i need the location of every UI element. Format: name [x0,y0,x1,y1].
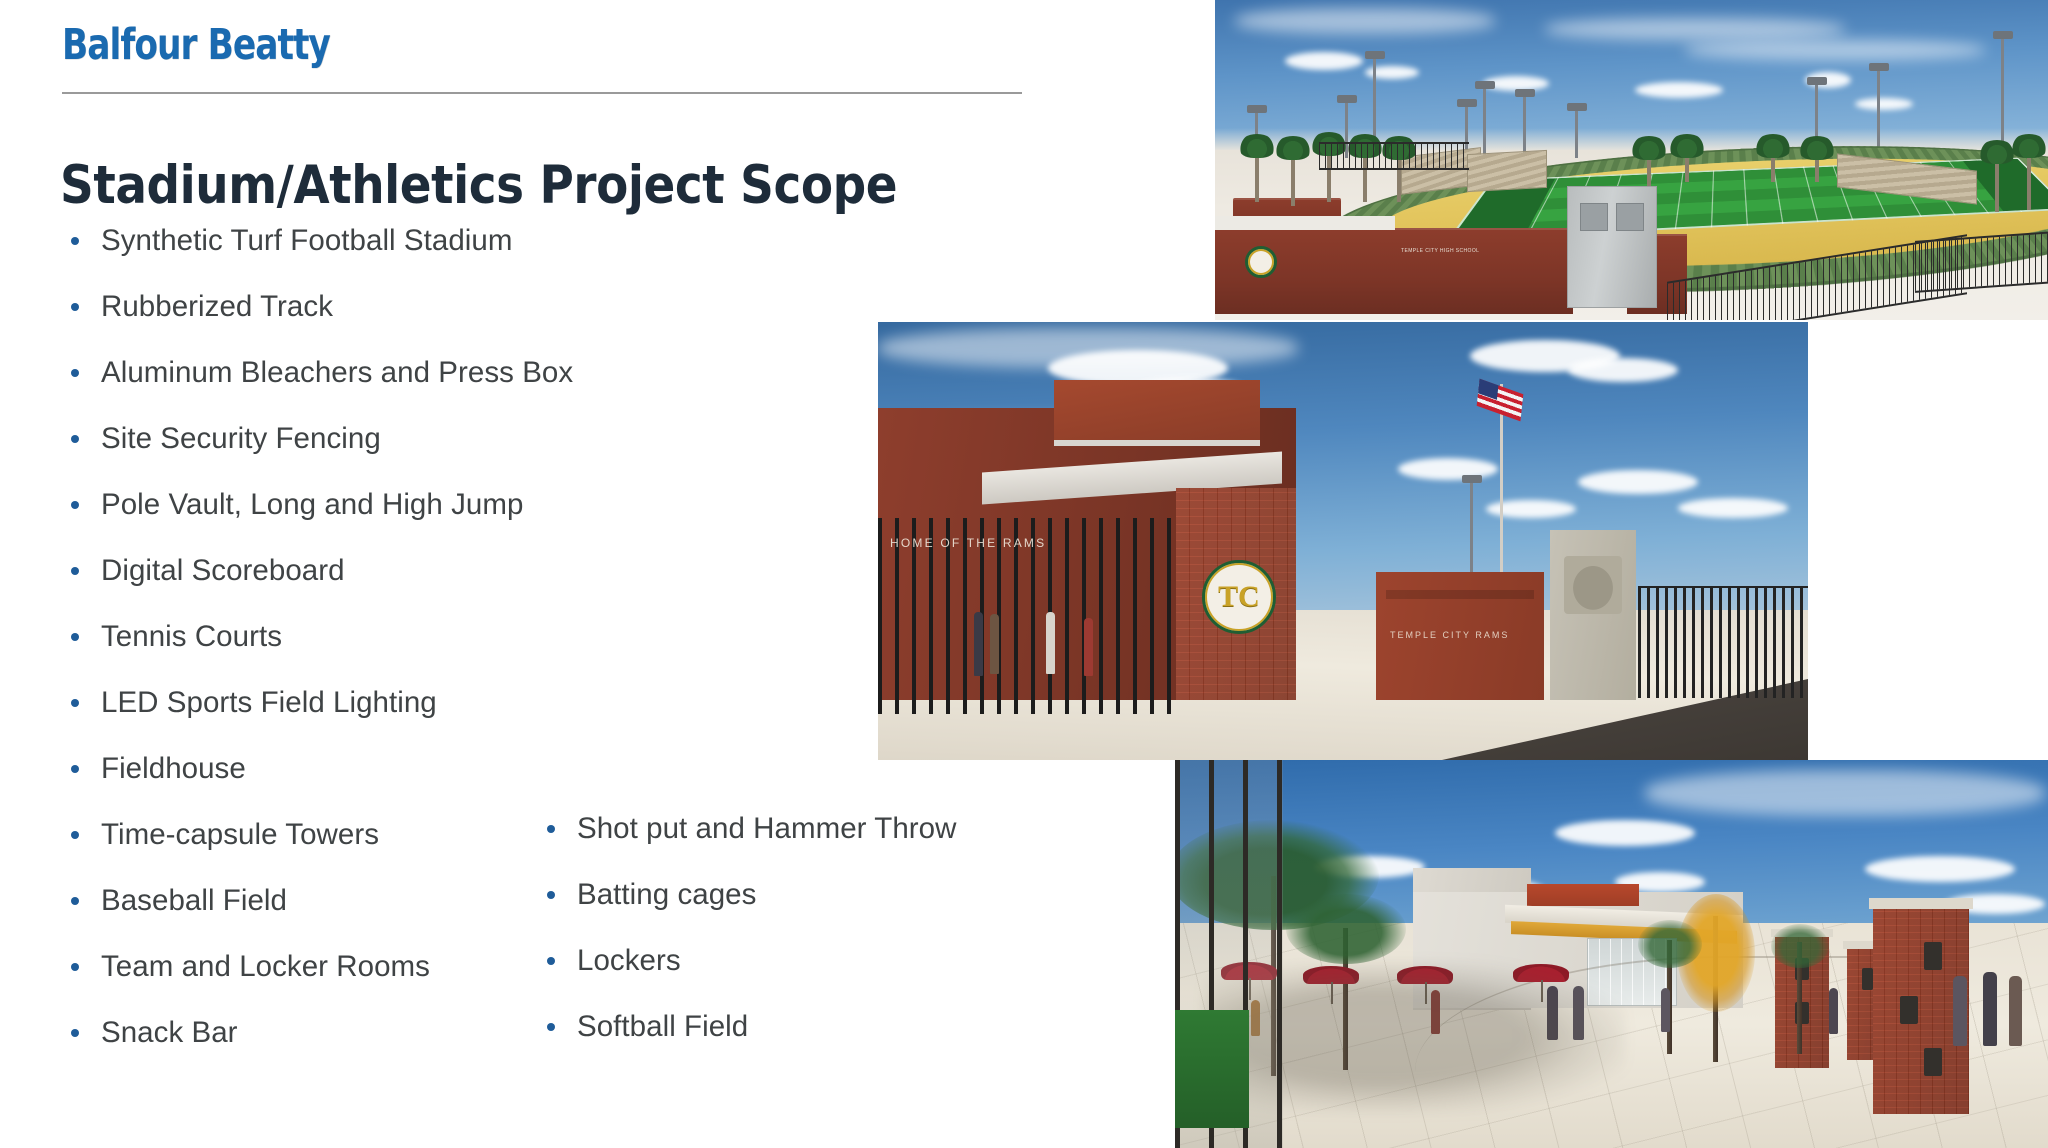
monument-wall [1550,530,1636,700]
bullet-dot-icon [71,237,79,245]
cloud [1555,820,1695,846]
security-fence [1915,231,2048,293]
light-pole [1483,88,1486,156]
bullet-dot-icon [71,1029,79,1037]
cloud [1678,498,1788,518]
tower-window [1862,968,1873,990]
palm-tree [1291,152,1295,206]
cloud [1685,40,1985,60]
tree-canopy [1771,924,1829,968]
list-item-label: Fieldhouse [101,752,246,785]
tower-window [1900,996,1918,1024]
cloud [1398,458,1498,480]
building-accent-band [1527,884,1639,906]
scope-list-secondary: Shot put and Hammer Throw Batting cages … [538,796,1058,1060]
tower-window [1924,942,1942,970]
tower-window [1924,1048,1942,1076]
tree-canopy [1638,920,1702,968]
cloud [1545,18,1845,40]
bullet-dot-icon [71,897,79,905]
list-item-label: Team and Locker Rooms [101,950,430,983]
tower-panel [1580,203,1608,231]
school-crest-icon [1245,246,1277,278]
list-item: Batting cages [538,862,1058,928]
bullet-dot-icon [71,435,79,443]
list-item: Aluminum Bleachers and Press Box [62,340,622,406]
security-fence [1638,586,1808,698]
tree-canopy [1286,894,1406,964]
gate-signage-text: HOME OF THE RAMS [890,536,1046,550]
light-pole [1523,96,1526,158]
person-figure [1084,618,1093,676]
list-item: Softball Field [538,994,1058,1060]
crest-monogram: TC [1205,563,1273,631]
palm-tree [2027,150,2031,210]
list-item-label: Time-capsule Towers [101,818,379,851]
cloud [1235,8,1495,34]
tower-cap [1869,898,1973,909]
person-figure [990,614,999,674]
bleacher [1467,150,1547,192]
bullet-dot-icon [71,567,79,575]
list-item-label: Site Security Fencing [101,422,381,455]
cloud [1285,52,1363,70]
accent-tree [1713,916,1718,1062]
bullet-dot-icon [547,957,555,965]
list-item-label: LED Sports Field Lighting [101,686,437,719]
security-fence [1319,142,1469,170]
brick-wing-wall: TEMPLE CITY RAMS [1376,572,1544,700]
stadium-wall-caption: TEMPLE CITY HIGH SCHOOL [1401,248,1479,254]
wall-reveal-band [1386,590,1534,599]
wing-wall-text: TEMPLE CITY RAMS [1390,630,1509,640]
list-item-label: Aluminum Bleachers and Press Box [101,356,573,389]
bullet-dot-icon [71,501,79,509]
list-item-label: Synthetic Turf Football Stadium [101,224,512,257]
cloud [1865,856,2015,882]
brick-parapet [1054,380,1260,440]
bullet-dot-icon [547,891,555,899]
list-item: LED Sports Field Lighting [62,670,622,736]
cloud [1635,82,1723,98]
list-item-label: Batting cages [577,878,756,911]
stadium-entry-rendering: TEMPLE CITY RAMS HOME OF THE RAMS TC [878,322,1808,760]
list-item-label: Softball Field [577,1010,748,1043]
cloud [1855,98,1913,110]
aerial-stadium-rendering: TEMPLE CITY HIGH SCHOOL [1215,0,2048,320]
bullet-dot-icon [71,765,79,773]
header-divider-rule [62,92,1022,94]
hedge-planting [1175,1010,1249,1128]
balfour-beatty-logo: Balfour Beatty [62,23,330,68]
person-figure [1953,976,1967,1046]
palm-tree [1647,152,1651,186]
bullet-dot-icon [71,963,79,971]
cloud [1568,358,1678,382]
list-item: Synthetic Turf Football Stadium [62,208,622,274]
palm-tree [1255,150,1259,202]
light-pole [1575,110,1578,158]
bullet-dot-icon [71,633,79,641]
list-item: Site Security Fencing [62,406,622,472]
school-crest-icon: TC [1202,560,1276,634]
list-item-label: Baseball Field [101,884,287,917]
bullet-dot-icon [71,303,79,311]
list-item: Digital Scoreboard [62,538,622,604]
brick-wall [1215,228,1365,314]
list-item: Shot put and Hammer Throw [538,796,1058,862]
tower-panel [1616,203,1644,231]
list-item: Tennis Courts [62,604,622,670]
mascot-relief-icon [1564,556,1622,614]
bullet-dot-icon [547,825,555,833]
shade-tree [1797,942,1802,1054]
person-figure [1829,988,1838,1034]
list-item: Fieldhouse [62,736,622,802]
wall-coping [1215,216,1395,230]
cloud [1578,470,1698,494]
brick-wall [1363,228,1573,314]
palm-tree [1815,152,1819,182]
list-item-label: Pole Vault, Long and High Jump [101,488,523,521]
person-figure [1046,612,1055,674]
person-figure [2009,976,2022,1046]
list-item-label: Rubberized Track [101,290,333,323]
list-item: Pole Vault, Long and High Jump [62,472,622,538]
bullet-dot-icon [71,699,79,707]
list-item-label: Digital Scoreboard [101,554,345,587]
campus-plaza-rendering [1175,760,2048,1148]
palm-tree [1685,150,1689,182]
list-item: Rubberized Track [62,274,622,340]
person-figure [974,612,983,676]
bullet-dot-icon [71,831,79,839]
list-item-label: Snack Bar [101,1016,238,1049]
slide-canvas: Balfour Beatty Stadium/Athletics Project… [0,0,2048,1148]
person-figure [1983,972,1997,1046]
list-item-label: Shot put and Hammer Throw [577,812,956,845]
list-item-label: Lockers [577,944,681,977]
bullet-dot-icon [71,369,79,377]
entry-gate-tower [1567,186,1657,308]
cloud [1645,770,2045,816]
person-figure [1661,988,1670,1032]
palm-tree [1771,150,1775,182]
list-item-label: Tennis Courts [101,620,282,653]
list-item: Lockers [538,928,1058,994]
bullet-dot-icon [547,1023,555,1031]
palm-tree [1995,156,1999,212]
